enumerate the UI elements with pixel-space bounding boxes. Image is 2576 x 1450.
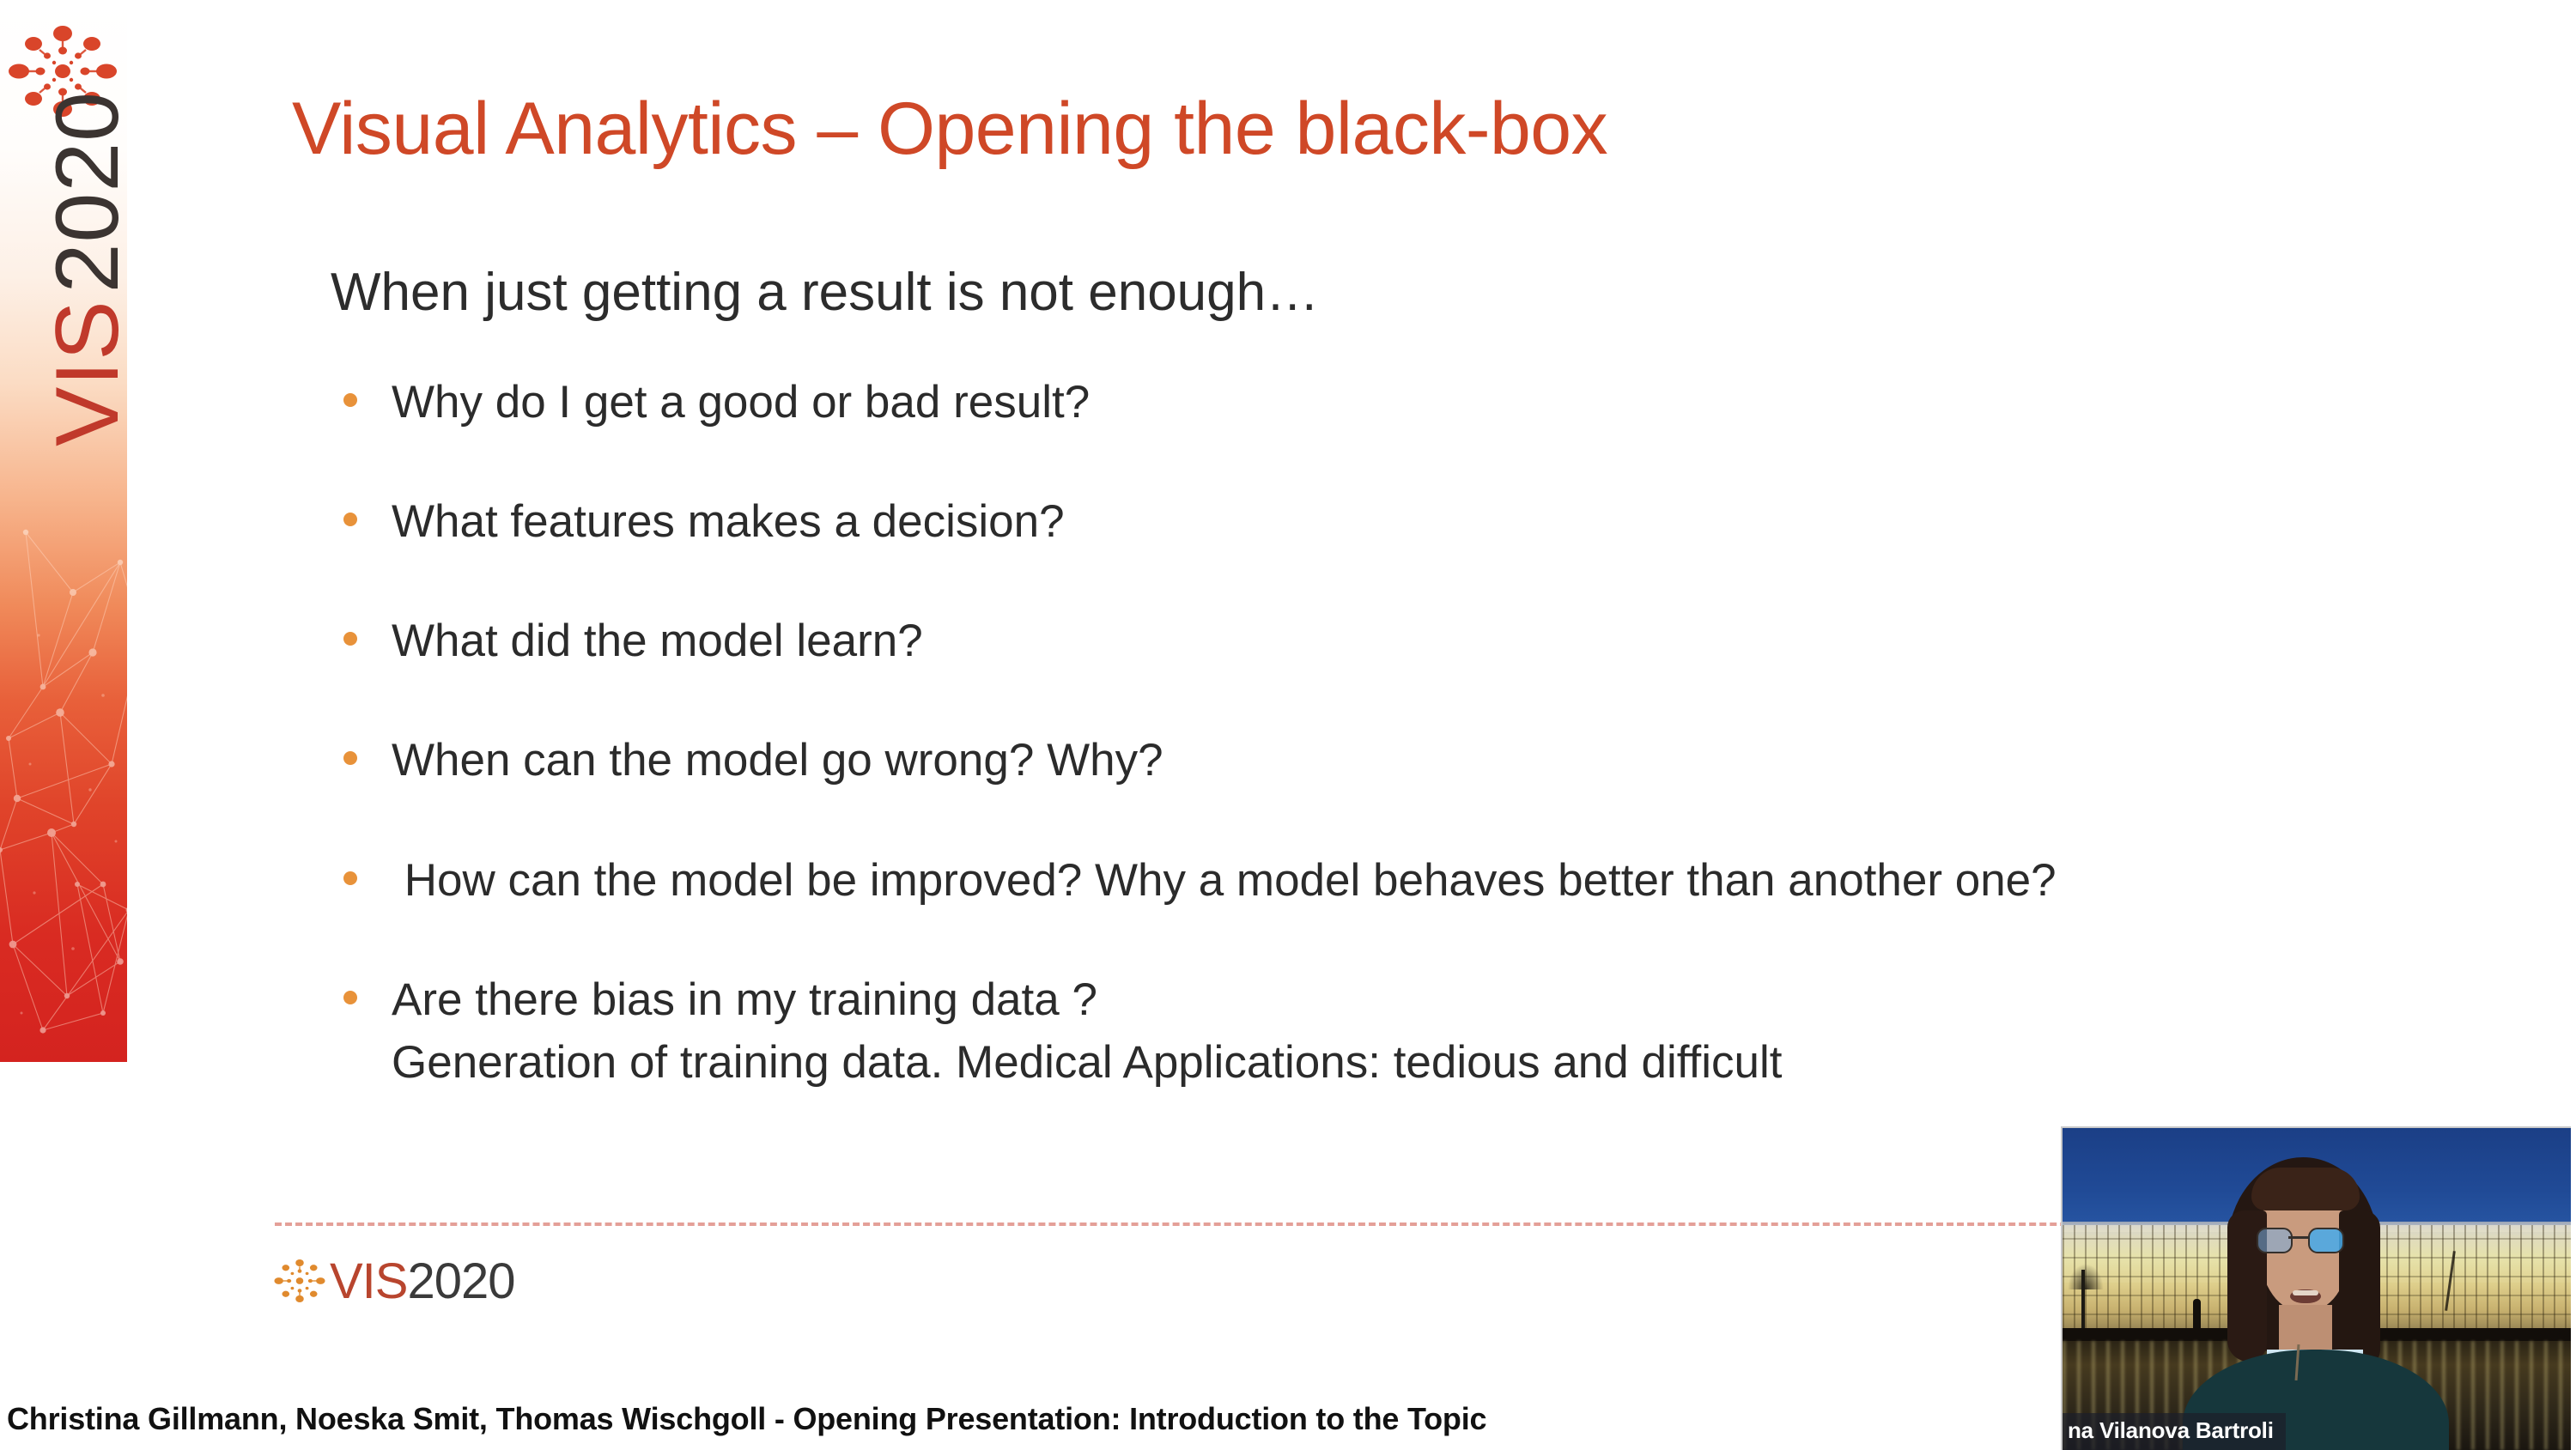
- speaker-glasses-right-lens: [2308, 1228, 2344, 1253]
- list-item: What did the model learn?: [343, 610, 2490, 672]
- list-item-label: What did the model learn?: [392, 610, 923, 672]
- page-title: Visual Analytics – Opening the black-box: [292, 90, 1607, 167]
- footer-logo: VIS 2020: [273, 1247, 515, 1315]
- bullet-dot-icon: [343, 393, 357, 407]
- list-item-label: Are there bias in my training data ? Gen…: [392, 968, 1782, 1094]
- list-item-label: Why do I get a good or bad result?: [392, 371, 1090, 434]
- bullet-dot-icon: [343, 751, 357, 765]
- footer-vis-text: VIS: [330, 1253, 408, 1310]
- lead-statement: When just getting a result is not enough…: [331, 262, 1319, 323]
- footer-year-text: 2020: [408, 1253, 515, 1310]
- vis-starburst-icon: [273, 1254, 326, 1307]
- video-scene: [2063, 1128, 2571, 1450]
- list-item: Are there bias in my training data ? Gen…: [343, 968, 2490, 1094]
- bullet-dot-icon: [343, 632, 357, 646]
- video-background-person: [2193, 1299, 2201, 1328]
- list-item: Why do I get a good or bad result?: [343, 371, 2490, 434]
- list-item: What features makes a decision?: [343, 490, 2490, 553]
- brand-sidebar: VIS 2020: [0, 0, 127, 1062]
- bullet-dot-icon: [343, 871, 357, 885]
- brand-year-text: 2020: [37, 91, 128, 293]
- presentation-caption: Christina Gillmann, Noeska Smit, Thomas …: [7, 1401, 1486, 1437]
- list-item-label: When can the model go wrong? Why?: [392, 729, 1163, 792]
- brand-vertical-wordmark: VIS 2020: [36, 86, 127, 446]
- speaker-glasses-left-lens: [2257, 1228, 2293, 1253]
- list-item-label: How can the model be improved? Why a mod…: [392, 849, 2057, 912]
- speaker-glasses-bridge: [2288, 1236, 2309, 1239]
- speaker-video-tile[interactable]: na Vilanova Bartroli: [2061, 1126, 2571, 1450]
- list-item: When can the model go wrong? Why?: [343, 729, 2490, 792]
- speaker-fringe: [2251, 1168, 2360, 1210]
- bullet-list: Why do I get a good or bad result? What …: [343, 371, 2490, 1150]
- speaker-name-label: na Vilanova Bartroli: [2063, 1413, 2286, 1450]
- bullet-dot-icon: [343, 991, 357, 1004]
- video-palm-fronds: [2068, 1264, 2104, 1289]
- network-graphic: [0, 481, 127, 1062]
- speaker-hair-right: [2339, 1210, 2380, 1370]
- brand-vis-text: VIS: [37, 300, 128, 446]
- bullet-dot-icon: [343, 513, 357, 526]
- list-item: How can the model be improved? Why a mod…: [343, 849, 2490, 912]
- list-item-label: What features makes a decision?: [392, 490, 1065, 553]
- speaker-teeth: [2293, 1290, 2318, 1295]
